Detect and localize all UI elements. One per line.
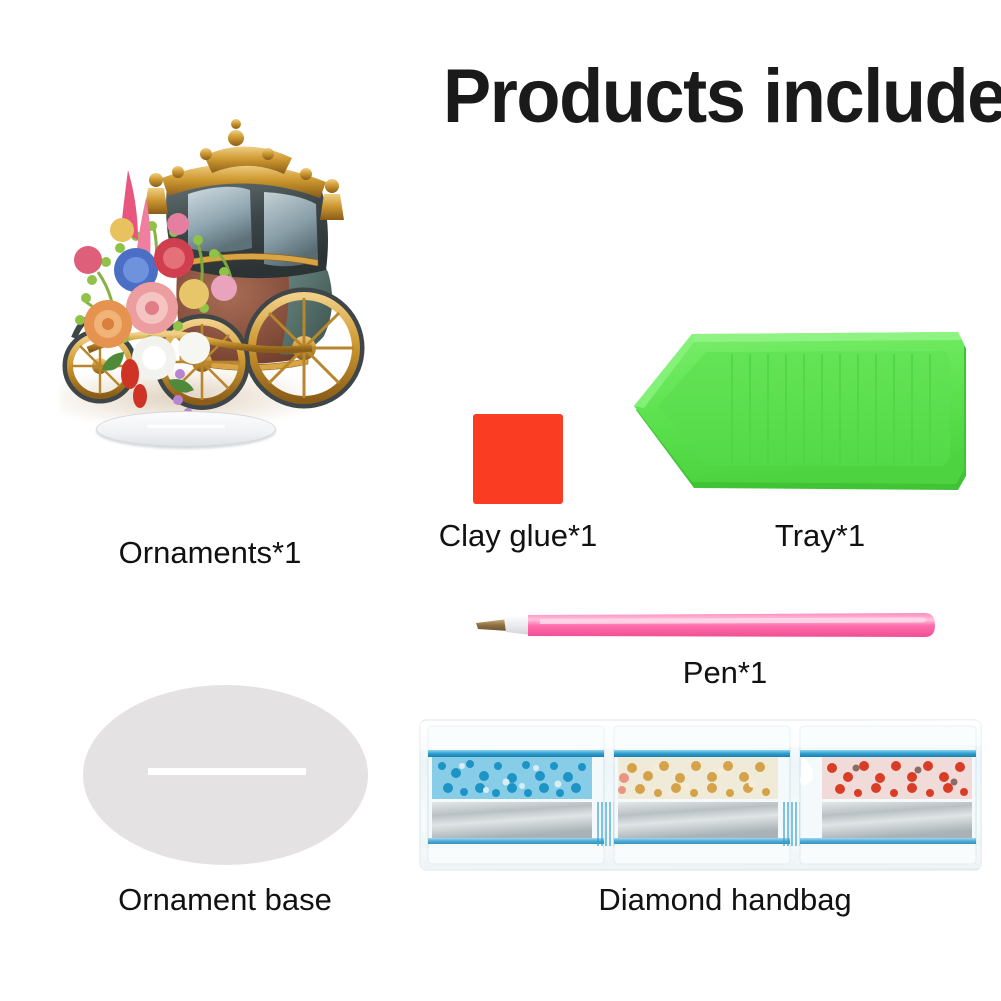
ornament-acrylic-disc: [96, 411, 276, 447]
green-diamond-tray-icon: [628, 318, 973, 508]
caption-ornament-base: Ornament base: [65, 882, 385, 918]
oval-acrylic-base-icon: [83, 685, 368, 865]
rhinestone-zip-bags-icon: [418, 716, 983, 874]
red-clay-square-icon: [473, 414, 563, 504]
oval-base-slot: [148, 768, 306, 775]
page-title: Products include: [443, 58, 961, 136]
product-inclusions-page: Products include: [0, 0, 1001, 1001]
caption-ornaments: Ornaments*1: [60, 535, 360, 571]
caption-clay-glue: Clay glue*1: [383, 518, 653, 554]
caption-diamond-handbag: Diamond handbag: [545, 882, 905, 918]
pink-drill-pen-icon: [470, 606, 945, 646]
caption-pen: Pen*1: [615, 655, 835, 691]
flower-carriage-ornament-icon: [28, 112, 368, 452]
caption-tray: Tray*1: [700, 518, 940, 554]
